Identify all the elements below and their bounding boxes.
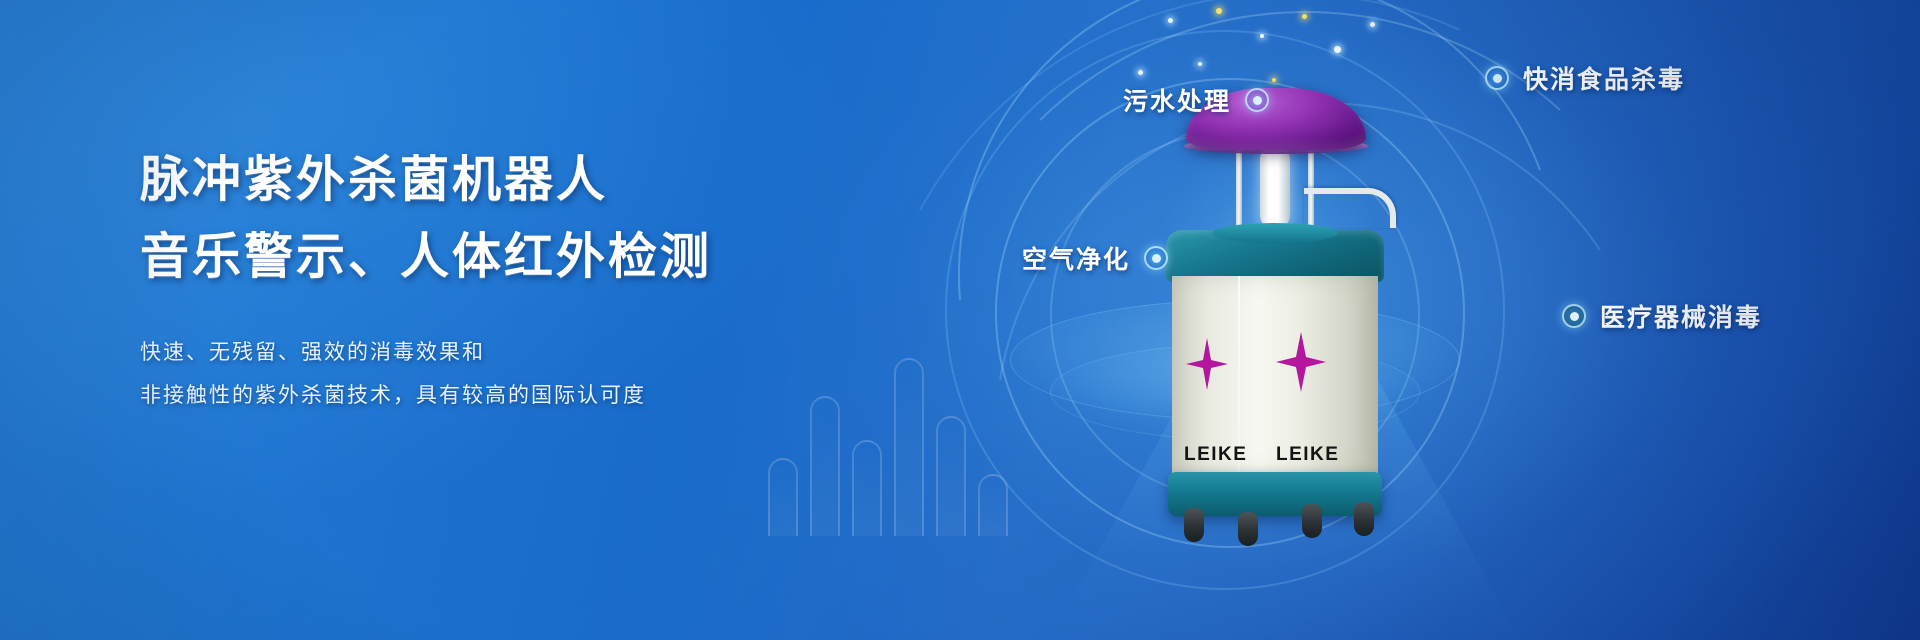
ring-dot-icon — [1485, 66, 1509, 90]
callout-label: 快消食品杀毒 — [1523, 60, 1685, 96]
sparkle — [1216, 8, 1222, 14]
brand-label-left: LEIKE — [1184, 444, 1247, 466]
callout-label: 医疗器械消毒 — [1600, 298, 1762, 334]
headline-secondary: 音乐警示、人体红外检测 — [140, 225, 900, 290]
waveform-bar — [768, 458, 798, 536]
caster-wheel — [1302, 504, 1322, 538]
caster-wheel — [1354, 502, 1374, 536]
copy-block: 脉冲紫外杀菌机器人 音乐警示、人体红外检测 快速、无残留、强效的消毒效果和 非接… — [140, 148, 900, 417]
ring-dot-icon — [1562, 304, 1586, 328]
ring-dot-icon — [1144, 246, 1168, 270]
sparkle — [1138, 70, 1143, 75]
push-handle — [1304, 188, 1396, 228]
caster-wheel — [1238, 512, 1258, 546]
sparkle — [1302, 14, 1307, 19]
brand-label-right: LEIKE — [1276, 444, 1339, 466]
four-point-star-icon — [1276, 332, 1326, 392]
callout-food[interactable]: 快消食品杀毒 — [1485, 60, 1685, 96]
sparkle — [1272, 78, 1276, 82]
uv-robot-device: LEIKE LEIKE — [1128, 88, 1418, 508]
subtitle-line-2: 非接触性的紫外杀菌技术，具有较高的国际认可度 — [140, 374, 900, 417]
sparkle — [1334, 46, 1341, 53]
callout-medical[interactable]: 医疗器械消毒 — [1562, 298, 1762, 334]
uv-lamp-tube — [1260, 144, 1290, 230]
lamp-rod-left — [1236, 146, 1242, 230]
subtitle-line-1: 快速、无残留、强效的消毒效果和 — [140, 331, 900, 374]
headline-primary: 脉冲紫外杀菌机器人 — [140, 148, 900, 213]
callout-air[interactable]: 空气净化 — [1022, 240, 1168, 276]
waveform-bar — [852, 440, 882, 536]
callout-sewage[interactable]: 污水处理 — [1123, 82, 1269, 118]
sparkle — [1198, 62, 1202, 66]
callout-label: 污水处理 — [1123, 82, 1231, 118]
sparkle — [1168, 18, 1173, 23]
ring-dot-icon — [1245, 88, 1269, 112]
callout-label: 空气净化 — [1022, 240, 1130, 276]
four-point-star-icon — [1186, 338, 1228, 390]
promo-banner: 脉冲紫外杀菌机器人 音乐警示、人体红外检测 快速、无残留、强效的消毒效果和 非接… — [0, 0, 1920, 640]
sparkle — [1370, 22, 1375, 27]
subtitle-block: 快速、无残留、强效的消毒效果和 非接触性的紫外杀菌技术，具有较高的国际认可度 — [140, 331, 900, 417]
sparkle — [1260, 34, 1264, 38]
product-scene: LEIKE LEIKE — [900, 0, 1920, 640]
device-top-cap — [1166, 230, 1384, 282]
caster-wheel — [1184, 508, 1204, 542]
